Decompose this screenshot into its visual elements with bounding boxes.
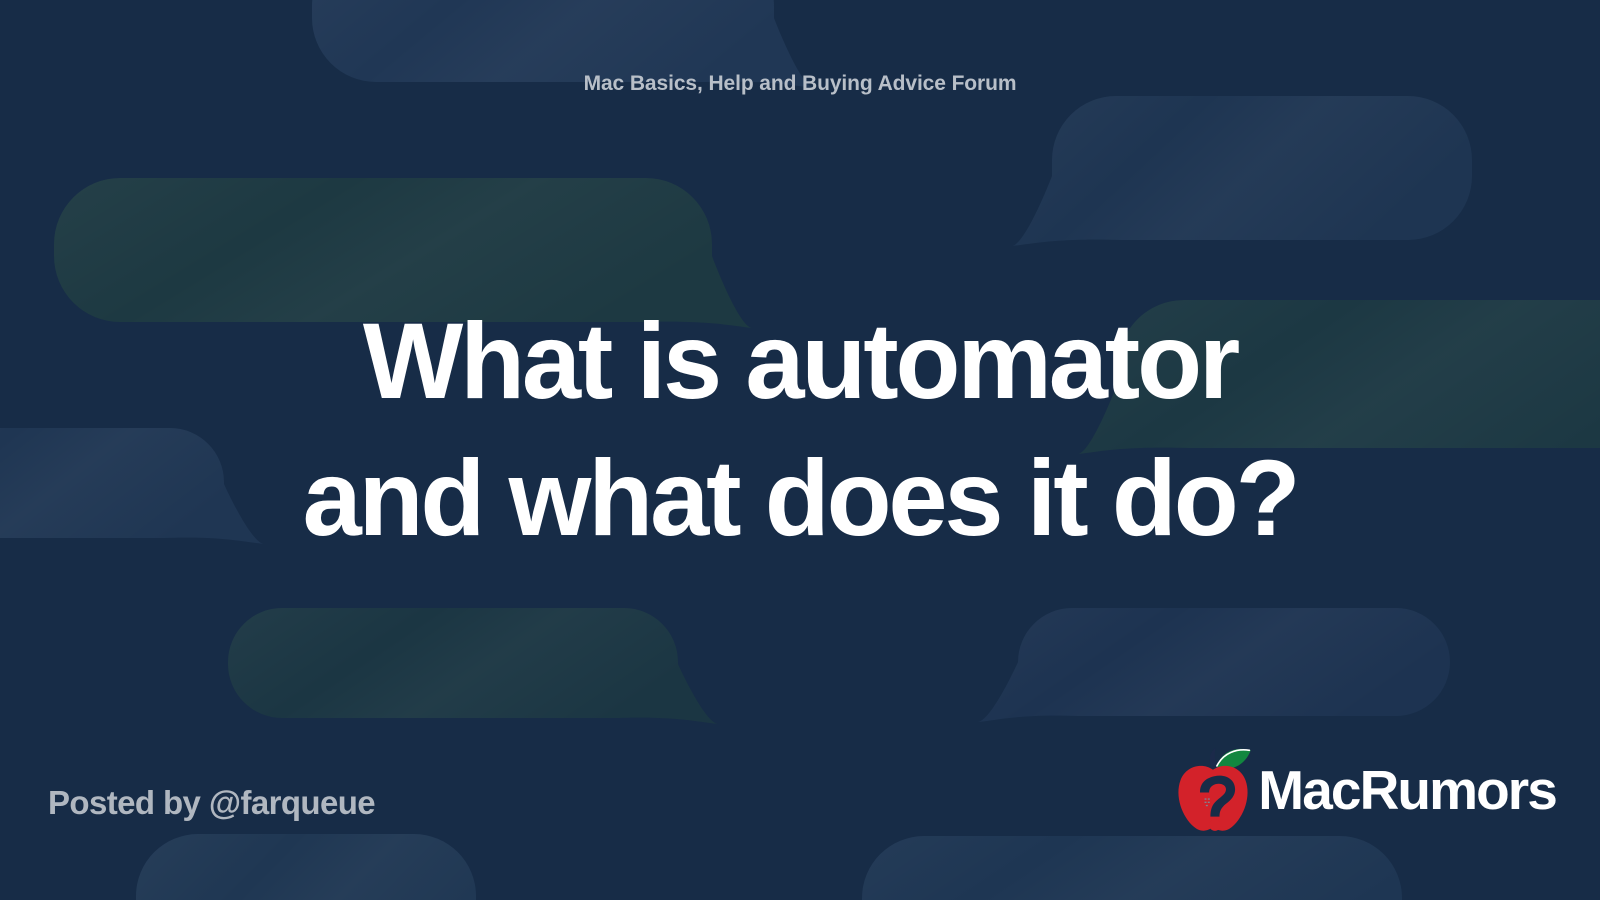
- page-title-line-2: and what does it do?: [12, 429, 1588, 566]
- macrumors-wordmark: MacRumors: [1258, 763, 1556, 818]
- page-title-line-1: What is automator: [12, 292, 1588, 429]
- page-title: What is automator and what does it do?: [0, 292, 1600, 566]
- macrumors-logo: MacRumors: [1174, 742, 1556, 834]
- forum-name-label: Mac Basics, Help and Buying Advice Forum: [0, 72, 1600, 96]
- macrumors-apple-question-mark-icon: [1174, 742, 1252, 834]
- posted-by-label: Posted by @farqueue: [48, 784, 375, 822]
